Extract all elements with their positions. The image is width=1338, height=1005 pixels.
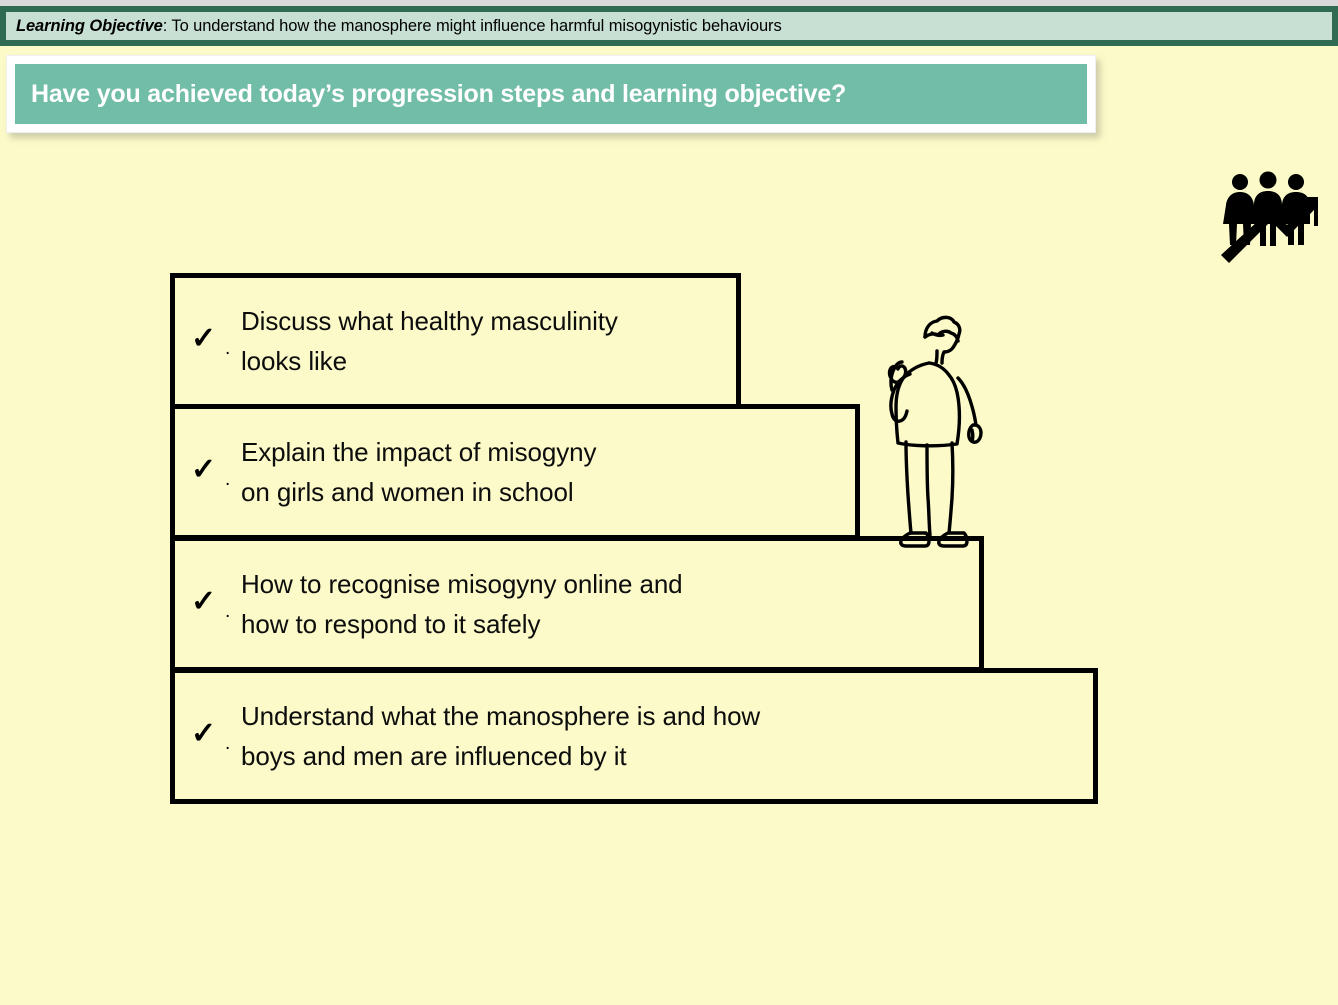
step-marker: ✓ .: [175, 409, 241, 535]
bullet-dot-icon: .: [225, 339, 230, 358]
step-marker: ✓ .: [175, 673, 241, 799]
bullet-dot-icon: .: [225, 602, 230, 621]
learning-objective-label: Learning Objective: [16, 17, 163, 35]
progression-step-box: ✓ . Understand what the manosphere is an…: [170, 668, 1098, 804]
progression-step-box: ✓ . Explain the impact of misogyny on gi…: [170, 404, 860, 540]
title-banner: Have you achieved today’s progression st…: [6, 55, 1096, 133]
step-marker: ✓ .: [175, 278, 241, 404]
learning-objective-body: : To understand how the manosphere might…: [163, 17, 782, 35]
learning-objective-text: Learning Objective: To understand how th…: [6, 17, 782, 36]
bullet-dot-icon: .: [225, 734, 230, 753]
person-standing-waving-illustration: [855, 300, 1015, 550]
step-label: Discuss what healthy masculinity looks l…: [241, 301, 618, 382]
check-icon: ✓: [191, 719, 216, 749]
progression-step-box: ✓ . How to recognise misogyny online and…: [170, 536, 984, 672]
step-label: How to recognise misogyny online and how…: [241, 564, 683, 645]
step-marker: ✓ .: [175, 541, 241, 667]
step-label: Explain the impact of misogyny on girls …: [241, 432, 596, 513]
progression-step-box: ✓ . Discuss what healthy masculinity loo…: [170, 273, 741, 409]
check-icon: ✓: [191, 587, 216, 617]
people-growth-arrow-icon: [1218, 165, 1318, 265]
title-banner-fill: Have you achieved today’s progression st…: [15, 64, 1087, 124]
check-icon: ✓: [191, 324, 216, 354]
step-label: Understand what the manosphere is and ho…: [241, 696, 760, 777]
bullet-dot-icon: .: [225, 470, 230, 489]
learning-objective-banner: Learning Objective: To understand how th…: [0, 6, 1338, 46]
page-title: Have you achieved today’s progression st…: [15, 80, 846, 109]
check-icon: ✓: [191, 455, 216, 485]
